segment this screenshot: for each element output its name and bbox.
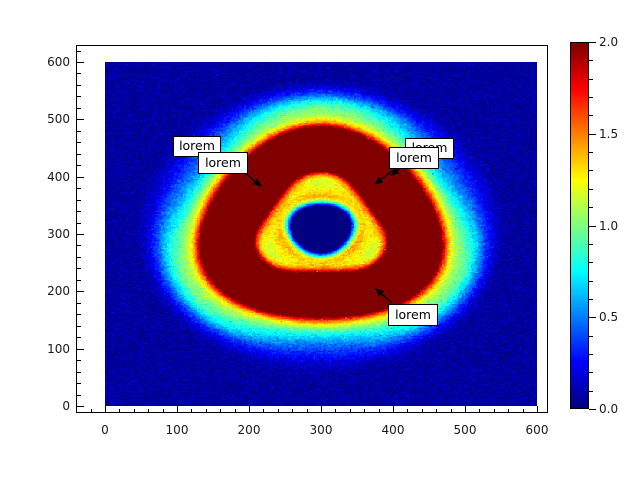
colorbar-tick-label: 1.5: [599, 128, 618, 140]
callout-upper-right-front[interactable]: lorem: [389, 147, 439, 169]
x-minor-tick: [235, 409, 236, 413]
x-tick-label: 400: [382, 424, 405, 436]
y-minor-tick: [77, 188, 81, 189]
colorbar-minor-tick: [589, 60, 593, 61]
x-minor-tick: [134, 409, 135, 413]
y-minor-tick: [77, 165, 81, 166]
y-major-tick: [77, 291, 84, 292]
y-minor-tick: [77, 73, 81, 74]
x-minor-tick: [479, 409, 480, 413]
y-minor-tick: [77, 337, 81, 338]
colorbar-minor-tick: [589, 170, 593, 171]
x-minor-tick: [494, 409, 495, 413]
x-minor-tick: [278, 409, 279, 413]
x-minor-tick: [292, 409, 293, 413]
x-minor-tick: [335, 409, 336, 413]
y-minor-tick: [77, 85, 81, 86]
colorbar-gradient: [571, 43, 588, 408]
annotation-label-text: lorem: [205, 157, 241, 170]
x-major-tick: [321, 406, 322, 413]
colorbar-major-tick: [589, 42, 596, 43]
x-minor-tick: [364, 409, 365, 413]
colorbar-tick-label: 1.0: [599, 220, 618, 232]
y-minor-tick: [77, 108, 81, 109]
y-minor-tick: [77, 154, 81, 155]
figure-canvas: 01002003004005006000100200300400500600 0…: [0, 0, 640, 480]
x-minor-tick: [436, 409, 437, 413]
y-tick-label: 300: [36, 228, 70, 240]
x-minor-tick: [307, 409, 308, 413]
y-minor-tick: [77, 245, 81, 246]
x-tick-label: 600: [526, 424, 549, 436]
colorbar-major-tick: [589, 409, 596, 410]
x-minor-tick: [191, 409, 192, 413]
y-tick-label: 0: [36, 400, 70, 412]
colorbar-minor-tick: [589, 336, 593, 337]
y-major-tick: [77, 119, 84, 120]
x-minor-tick: [379, 409, 380, 413]
callout-bottom-right[interactable]: lorem: [388, 304, 438, 326]
x-tick-label: 500: [454, 424, 477, 436]
colorbar-major-tick: [589, 317, 596, 318]
x-minor-tick: [407, 409, 408, 413]
colorbar-minor-tick: [589, 262, 593, 263]
x-minor-tick: [523, 409, 524, 413]
colorbar-minor-tick: [589, 207, 593, 208]
y-tick-label: 400: [36, 171, 70, 183]
y-minor-tick: [77, 142, 81, 143]
y-minor-tick: [77, 303, 81, 304]
x-minor-tick: [263, 409, 264, 413]
heatmap-image: [105, 62, 537, 406]
y-minor-tick: [77, 131, 81, 132]
x-major-tick: [465, 406, 466, 413]
x-tick-label: 0: [101, 424, 109, 436]
y-minor-tick: [77, 326, 81, 327]
x-minor-tick: [220, 409, 221, 413]
x-minor-tick: [350, 409, 351, 413]
y-major-tick: [77, 234, 84, 235]
x-major-tick: [177, 406, 178, 413]
y-tick-label: 500: [36, 113, 70, 125]
colorbar-minor-tick: [589, 97, 593, 98]
callout-upper-left-front[interactable]: lorem: [198, 152, 248, 174]
y-minor-tick: [77, 96, 81, 97]
colorbar-minor-tick: [589, 115, 593, 116]
colorbar-minor-tick: [589, 189, 593, 190]
y-minor-tick: [77, 280, 81, 281]
y-major-tick: [77, 349, 84, 350]
colorbar-minor-tick: [589, 391, 593, 392]
colorbar-tick-label: 0.0: [599, 403, 618, 415]
colorbar-major-tick: [589, 134, 596, 135]
colorbar-minor-tick: [589, 354, 593, 355]
y-minor-tick: [77, 51, 81, 52]
x-tick-label: 100: [166, 424, 189, 436]
y-minor-tick: [77, 395, 81, 396]
y-major-tick: [77, 406, 84, 407]
colorbar-minor-tick: [589, 79, 593, 80]
y-minor-tick: [77, 372, 81, 373]
x-major-tick: [105, 406, 106, 413]
x-major-tick: [393, 406, 394, 413]
y-major-tick: [77, 177, 84, 178]
colorbar-minor-tick: [589, 244, 593, 245]
annotation-label-text: lorem: [396, 152, 432, 165]
y-tick-label: 600: [36, 56, 70, 68]
y-minor-tick: [77, 360, 81, 361]
colorbar-major-tick: [589, 226, 596, 227]
x-minor-tick: [422, 409, 423, 413]
x-major-tick: [537, 406, 538, 413]
colorbar-tick-label: 2.0: [599, 36, 618, 48]
y-tick-label: 100: [36, 343, 70, 355]
y-minor-tick: [77, 383, 81, 384]
y-tick-label: 200: [36, 285, 70, 297]
y-minor-tick: [77, 268, 81, 269]
x-minor-tick: [148, 409, 149, 413]
y-minor-tick: [77, 314, 81, 315]
colorbar-minor-tick: [589, 152, 593, 153]
colorbar-tick-label: 0.5: [599, 311, 618, 323]
y-minor-tick: [77, 257, 81, 258]
annotation-label-text: lorem: [179, 140, 215, 153]
colorbar-minor-tick: [589, 372, 593, 373]
x-minor-tick: [508, 409, 509, 413]
annotation-label-text: lorem: [395, 309, 431, 322]
x-minor-tick: [119, 409, 120, 413]
colorbar-minor-tick: [589, 299, 593, 300]
x-minor-tick: [451, 409, 452, 413]
x-minor-tick: [163, 409, 164, 413]
x-major-tick: [249, 406, 250, 413]
x-tick-label: 300: [310, 424, 333, 436]
y-minor-tick: [77, 211, 81, 212]
x-tick-label: 200: [238, 424, 261, 436]
x-minor-tick: [206, 409, 207, 413]
y-minor-tick: [77, 200, 81, 201]
y-major-tick: [77, 62, 84, 63]
colorbar-minor-tick: [589, 281, 593, 282]
x-minor-tick: [91, 409, 92, 413]
y-minor-tick: [77, 223, 81, 224]
